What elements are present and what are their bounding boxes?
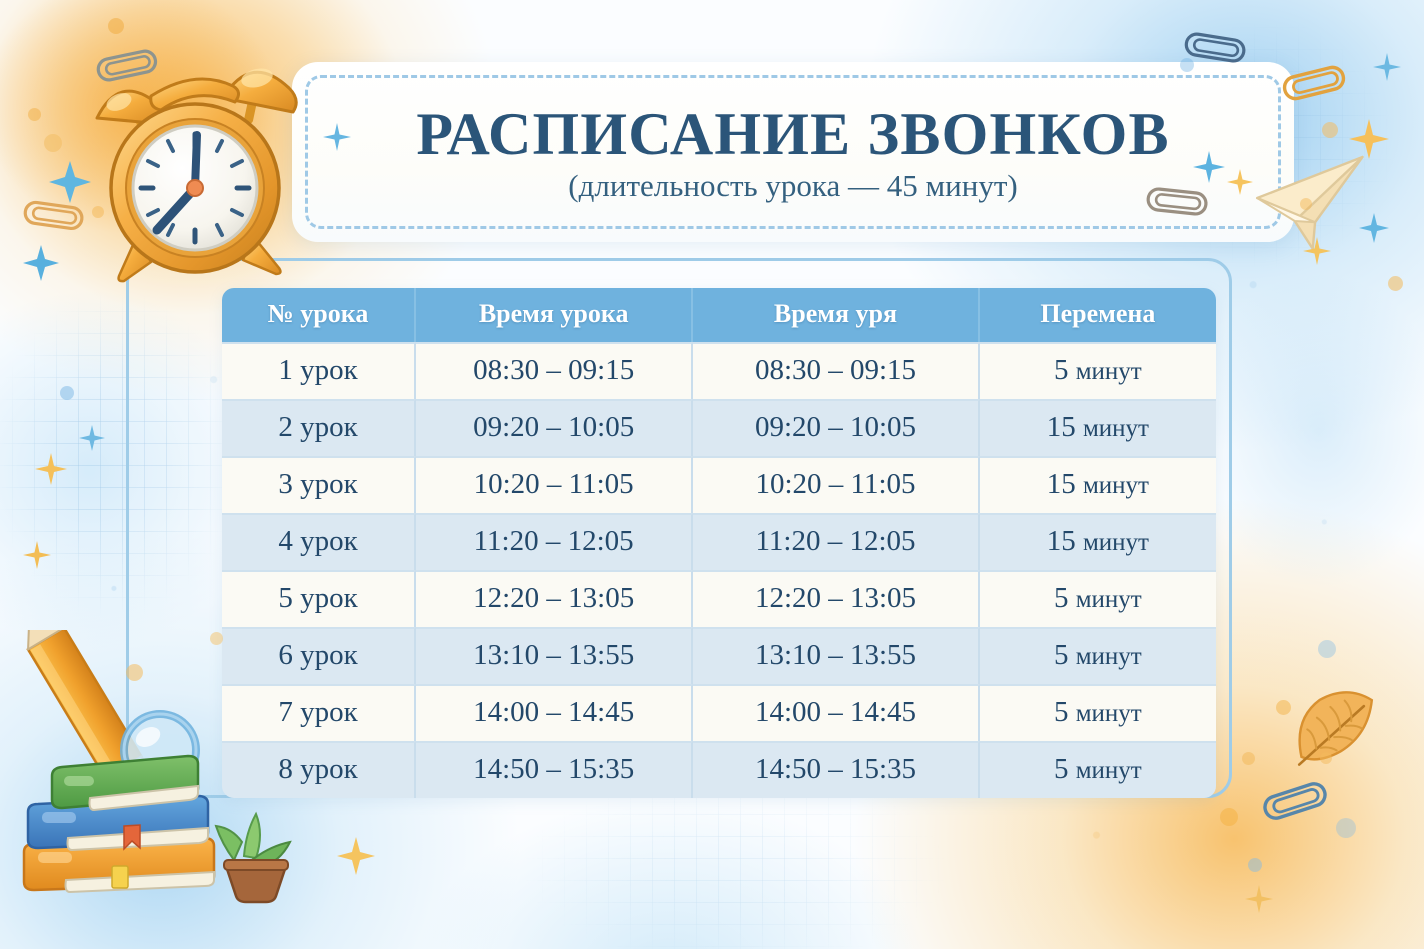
cell-lesson-time-2: 12:20 – 13:05 [693, 570, 979, 627]
bell-schedule-table: № урока Время урока Время уря Перемена 1… [222, 288, 1216, 798]
break-unit: минут [1083, 529, 1149, 556]
paint-dot [1248, 858, 1262, 872]
sparkle-star-icon [1302, 236, 1332, 271]
paint-dot [1220, 808, 1238, 826]
paint-dot [60, 386, 74, 400]
table-row: 7 урок14:00 – 14:4514:00 – 14:455 минут [222, 684, 1216, 741]
cell-lesson-number: 3 урок [222, 456, 416, 513]
paint-dot [1336, 818, 1356, 838]
sparkle-star-icon [1372, 52, 1402, 87]
break-unit: минут [1076, 700, 1142, 727]
cell-lesson-time: 14:50 – 15:35 [416, 741, 693, 798]
cell-break: 15 минут [980, 399, 1216, 456]
cell-lesson-time-2: 08:30 – 09:15 [693, 342, 979, 399]
cell-lesson-time-2: 10:20 – 11:05 [693, 456, 979, 513]
break-unit: минут [1083, 415, 1149, 442]
cell-lesson-time-2: 09:20 – 10:05 [693, 399, 979, 456]
cell-break: 5 минут [980, 741, 1216, 798]
break-unit: минут [1076, 358, 1142, 385]
sparkle-star-icon [1226, 168, 1254, 201]
sparkle-star-icon [78, 424, 106, 457]
cell-break: 15 минут [980, 456, 1216, 513]
table-header: № урока Время урока Время уря Перемена [222, 288, 1216, 342]
paint-dot [92, 206, 104, 218]
column-header-lesson-time: Время урока [416, 288, 693, 342]
sparkle-star-icon [22, 244, 60, 287]
table-body: 1 урок08:30 – 09:1508:30 – 09:155 минут2… [222, 342, 1216, 798]
table-row: 6 урок13:10 – 13:5513:10 – 13:555 минут [222, 627, 1216, 684]
cell-lesson-number: 2 урок [222, 399, 416, 456]
paperclip-icon [1258, 780, 1332, 827]
paint-dot [108, 18, 124, 34]
table-row: 2 урок09:20 – 10:0509:20 – 10:0515 минут [222, 399, 1216, 456]
table-row: 5 урок12:20 – 13:0512:20 – 13:055 минут [222, 570, 1216, 627]
column-header-lesson-time-2: Время уря [693, 288, 979, 342]
cell-lesson-time: 09:20 – 10:05 [416, 399, 693, 456]
sparkle-star-icon [1358, 212, 1390, 249]
cell-break: 5 минут [980, 570, 1216, 627]
sparkle-star-icon [34, 452, 68, 491]
cell-lesson-time: 11:20 – 12:05 [416, 513, 693, 570]
sparkle-star-icon [48, 160, 92, 209]
paint-dot [1242, 752, 1255, 765]
break-value: 15 [1047, 411, 1076, 443]
paint-dot [44, 134, 62, 152]
table-header-row: № урока Время урока Время уря Перемена [222, 288, 1216, 342]
cell-break: 5 минут [980, 342, 1216, 399]
cell-lesson-time: 12:20 – 13:05 [416, 570, 693, 627]
cell-lesson-time: 08:30 – 09:15 [416, 342, 693, 399]
cell-break: 5 минут [980, 627, 1216, 684]
paint-dot [1388, 276, 1403, 291]
table-row: 8 урок14:50 – 15:3514:50 – 15:355 минут [222, 741, 1216, 798]
break-unit: минут [1076, 643, 1142, 670]
paint-dot [210, 632, 223, 645]
sparkle-star-icon [1244, 884, 1274, 919]
cell-lesson-time: 13:10 – 13:55 [416, 627, 693, 684]
paint-dot [126, 664, 143, 681]
cell-lesson-number: 4 урок [222, 513, 416, 570]
break-unit: минут [1083, 472, 1149, 499]
cell-lesson-number: 1 урок [222, 342, 416, 399]
table-row: 4 урок11:20 – 12:0511:20 – 12:0515 минут [222, 513, 1216, 570]
break-unit: минут [1076, 757, 1142, 784]
break-value: 5 [1054, 696, 1069, 728]
paint-dot [1322, 122, 1338, 138]
paint-dot [1320, 752, 1332, 764]
autumn-leaf-icon [1286, 680, 1376, 785]
cell-lesson-time-2: 11:20 – 12:05 [693, 513, 979, 570]
cell-lesson-time-2: 14:50 – 15:35 [693, 741, 979, 798]
cell-lesson-time-2: 14:00 – 14:45 [693, 684, 979, 741]
column-header-lesson-number: № урока [222, 288, 416, 342]
paint-dot [1180, 58, 1194, 72]
paint-dot [1276, 700, 1291, 715]
sparkle-star-icon [1348, 118, 1390, 165]
cell-lesson-time-2: 13:10 – 13:55 [693, 627, 979, 684]
break-value: 5 [1054, 639, 1069, 671]
break-value: 15 [1047, 468, 1076, 500]
table-row: 1 урок08:30 – 09:1508:30 – 09:155 минут [222, 342, 1216, 399]
break-value: 5 [1054, 753, 1069, 785]
paperclip-icon [92, 46, 162, 91]
paint-dot [28, 108, 41, 121]
sparkle-star-icon [336, 836, 376, 881]
school-supplies-group [8, 630, 308, 930]
cell-break: 5 минут [980, 684, 1216, 741]
table-row: 3 урок10:20 – 11:0510:20 – 11:0515 минут [222, 456, 1216, 513]
page-subtitle: (длительность урока — 45 минут) [568, 170, 1017, 201]
paperclip-icon [1278, 62, 1350, 109]
break-value: 5 [1054, 582, 1069, 614]
break-value: 15 [1047, 525, 1076, 557]
cell-lesson-number: 5 урок [222, 570, 416, 627]
paint-dot [1318, 640, 1336, 658]
cell-lesson-time: 10:20 – 11:05 [416, 456, 693, 513]
paint-dot [1300, 198, 1312, 210]
break-value: 5 [1054, 354, 1069, 386]
poster-canvas: РАСПИСАНИЕ ЗВОНКОВ (длительность урока —… [0, 0, 1424, 949]
column-header-break: Перемена [980, 288, 1216, 342]
sparkle-star-icon [1192, 150, 1226, 189]
cell-lesson-time: 14:00 – 14:45 [416, 684, 693, 741]
cell-break: 15 минут [980, 513, 1216, 570]
sparkle-star-icon [322, 122, 352, 157]
page-title: РАСПИСАНИЕ ЗВОНКОВ [416, 104, 1169, 164]
sparkle-star-icon [22, 540, 52, 575]
break-unit: минут [1076, 586, 1142, 613]
